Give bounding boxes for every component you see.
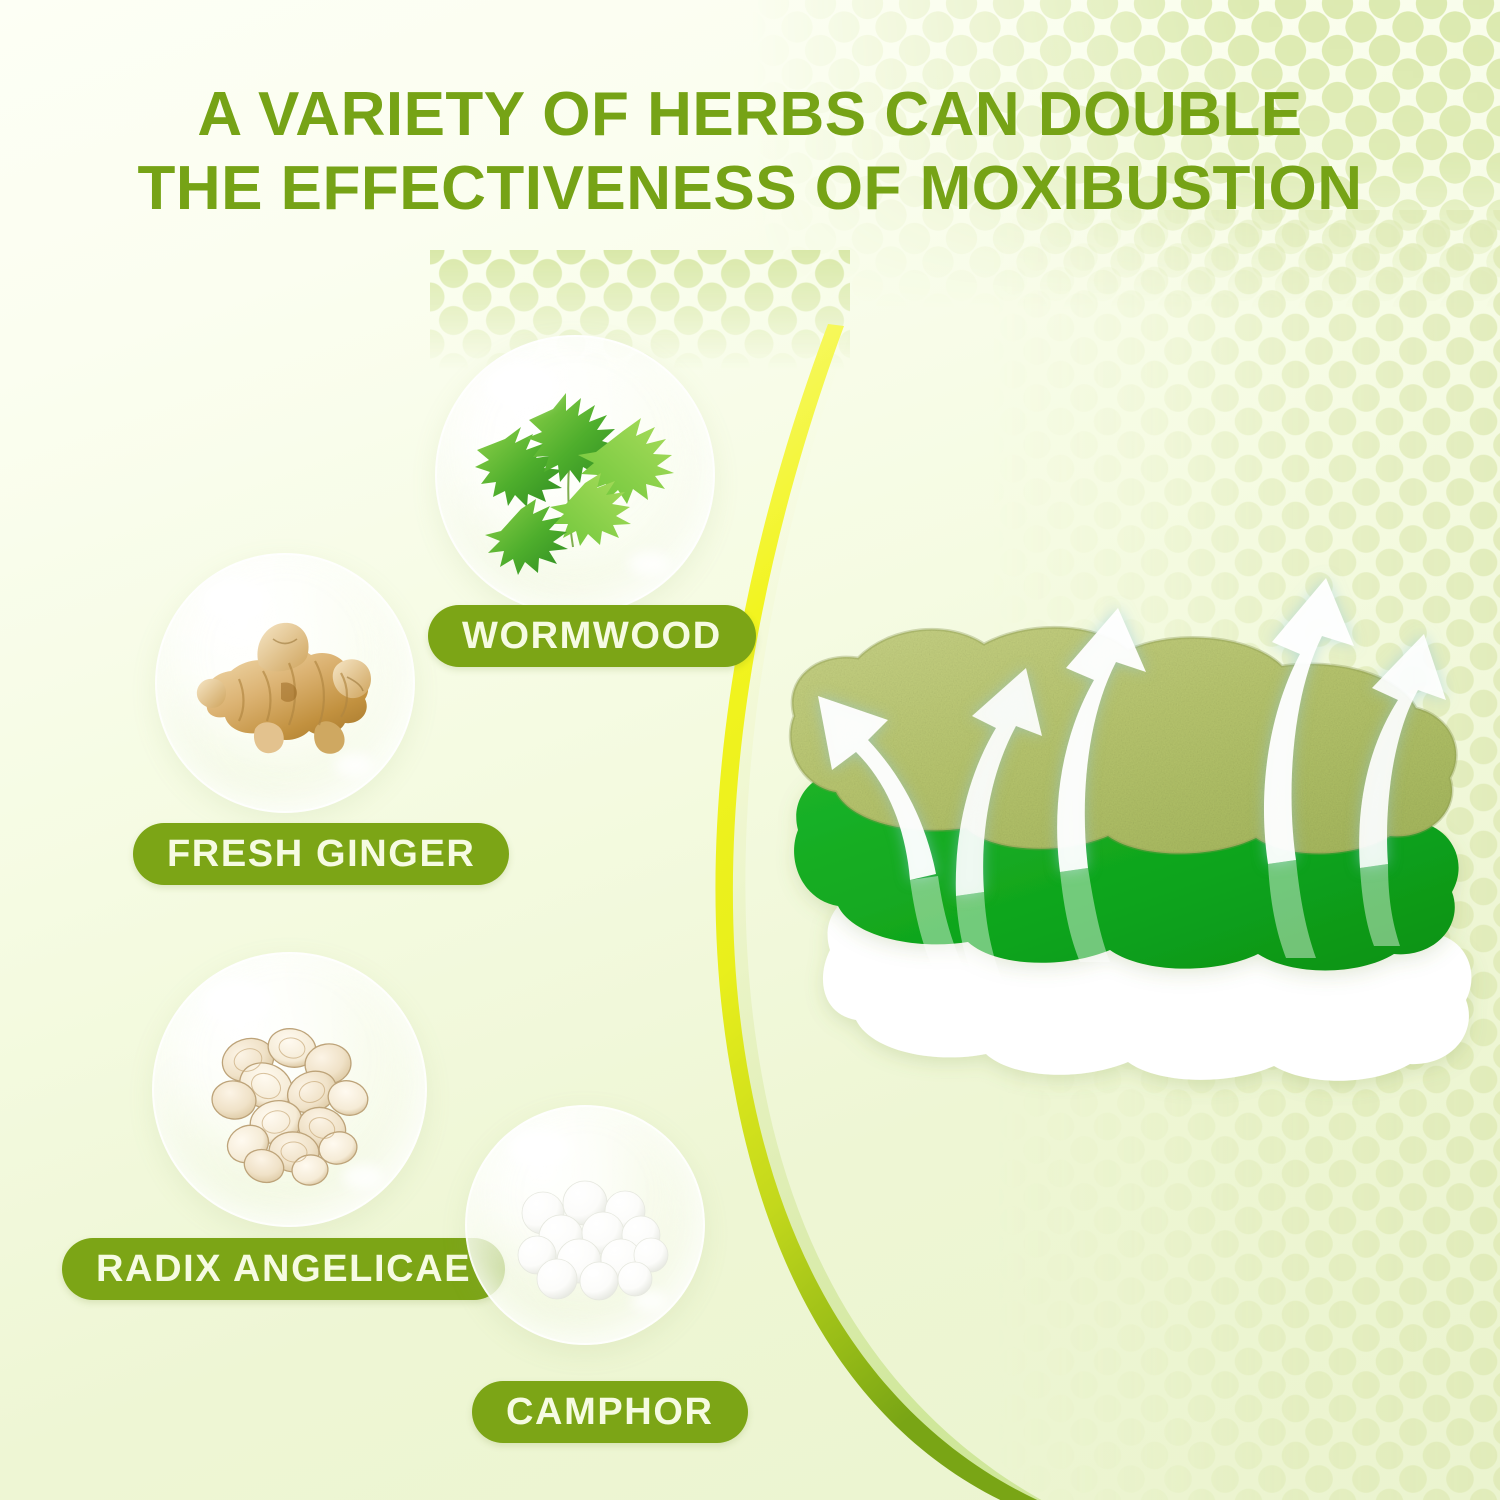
angelica-root-slices-icon bbox=[152, 952, 427, 1227]
ingredient-label-camphor[interactable]: CAMPHOR bbox=[472, 1381, 748, 1443]
ingredient-bubble-camphor[interactable] bbox=[465, 1105, 705, 1345]
ingredient-label-wormwood[interactable]: WORMWOOD bbox=[428, 605, 756, 667]
wormwood-leaves-icon bbox=[435, 335, 715, 615]
page-title: A VARIETY OF HERBS CAN DOUBLE THE EFFECT… bbox=[0, 78, 1500, 226]
ingredient-label-fresh-ginger[interactable]: FRESH GINGER bbox=[133, 823, 509, 885]
ginger-root-icon bbox=[155, 553, 415, 813]
ingredient-label-radix-angelicae[interactable]: RADIX ANGELICAE bbox=[62, 1238, 505, 1300]
title-line-2: THE EFFECTIVENESS OF MOXIBUSTION bbox=[0, 152, 1500, 226]
title-line-1: A VARIETY OF HERBS CAN DOUBLE bbox=[197, 80, 1302, 149]
ingredient-bubble-fresh-ginger[interactable] bbox=[155, 553, 415, 813]
ingredient-bubble-radix-angelicae[interactable] bbox=[152, 952, 427, 1227]
layered-moxibustion-patch bbox=[760, 520, 1500, 1160]
ingredient-bubble-wormwood[interactable] bbox=[435, 335, 715, 615]
camphor-balls-icon bbox=[465, 1105, 705, 1345]
infographic-canvas: A VARIETY OF HERBS CAN DOUBLE THE EFFECT… bbox=[0, 0, 1500, 1500]
